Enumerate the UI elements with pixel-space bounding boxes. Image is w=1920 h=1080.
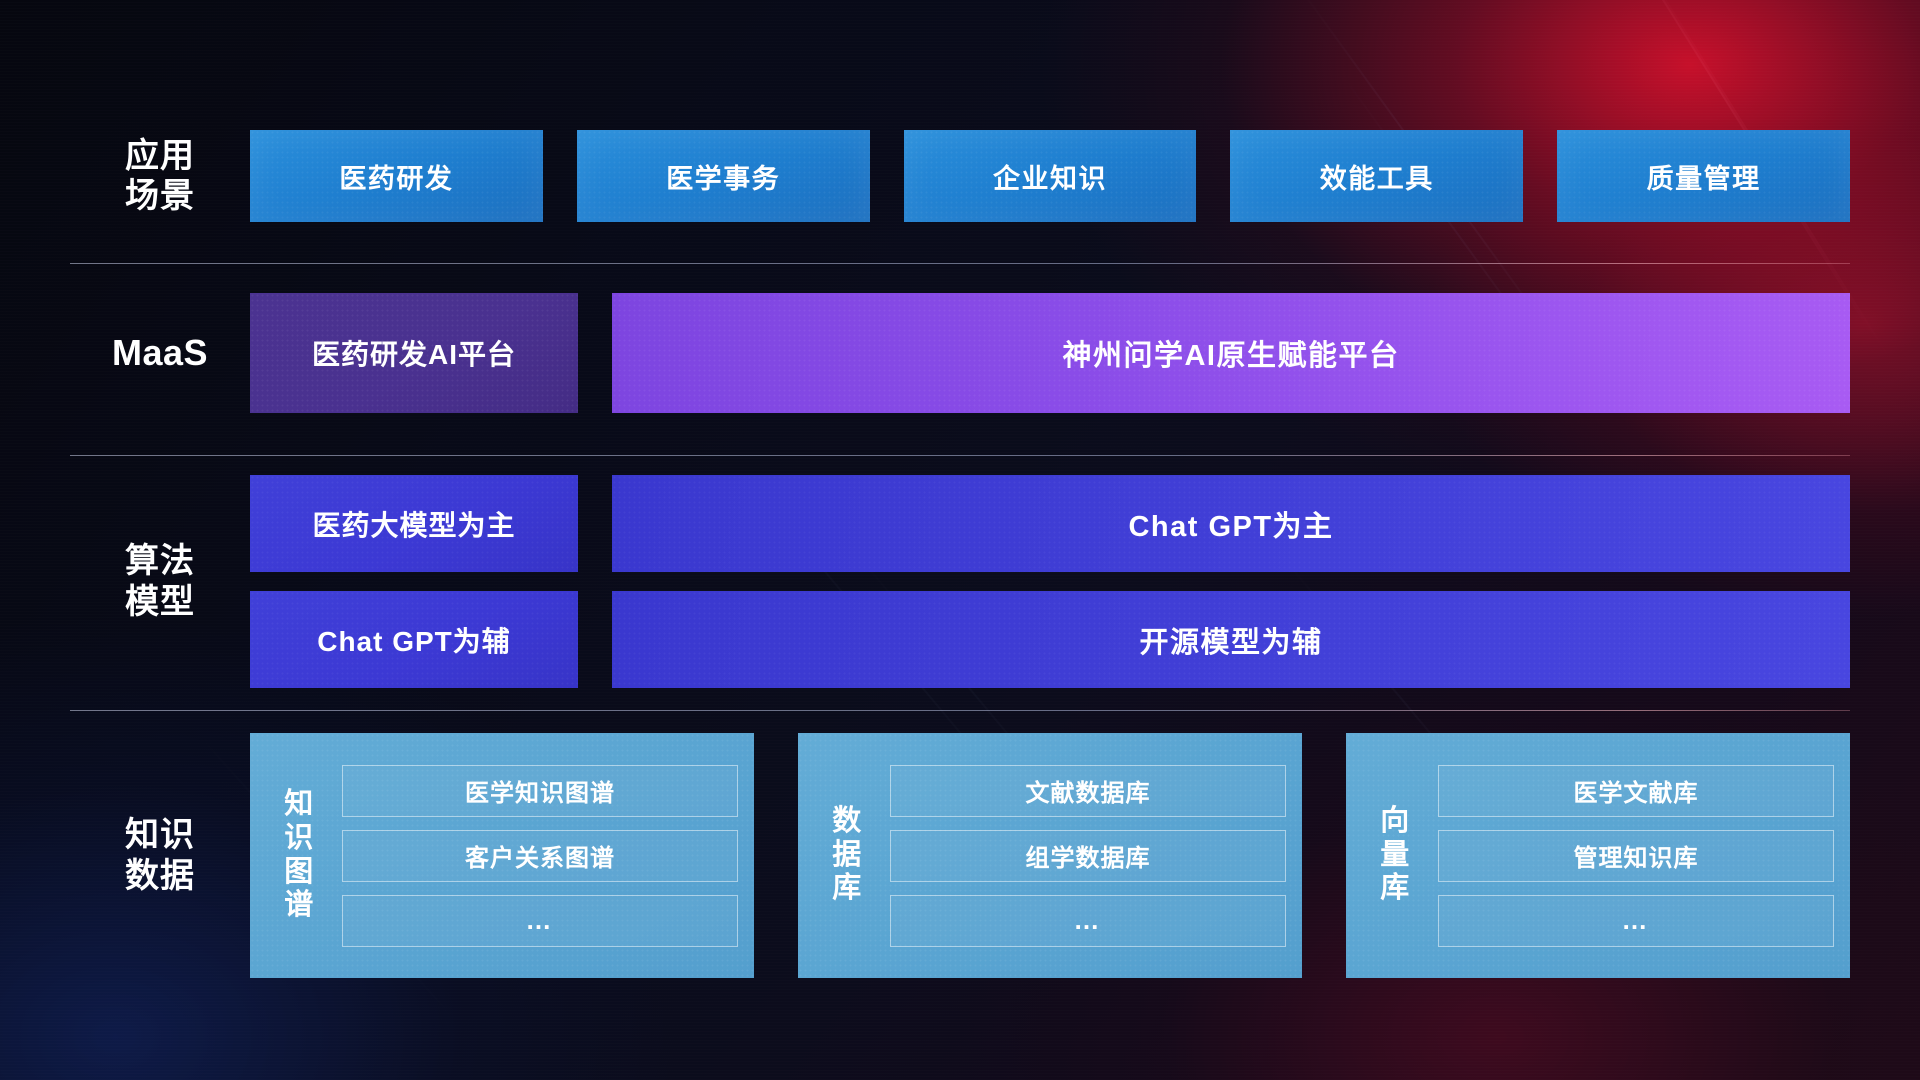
divider-after-maas xyxy=(70,455,1850,456)
tier-label-application-scenarios: 应用 场景 xyxy=(70,136,250,216)
knowledge-panel-items: 文献数据库 组学数据库 … xyxy=(890,765,1286,947)
vertical-label-char: 库 xyxy=(1352,872,1438,906)
app-box-label: 医学事务 xyxy=(666,157,780,196)
vertical-label-char: 据 xyxy=(804,839,890,873)
app-box-efficiency-tools[interactable]: 效能工具 xyxy=(1230,130,1523,222)
tier-label-line: 知识 xyxy=(70,815,250,855)
algo-box-chatgpt-primary[interactable]: Chat GPT为主 xyxy=(612,475,1850,572)
app-box-drug-rd[interactable]: 医药研发 xyxy=(250,130,543,222)
vertical-label-char: 谱 xyxy=(256,889,342,923)
knowledge-item-label: 医学文献库 xyxy=(1574,773,1699,808)
knowledge-panel-knowledge-graph[interactable]: 知 识 图 谱 医学知识图谱 客户关系图谱 … xyxy=(250,733,754,978)
knowledge-item-literature-database[interactable]: 文献数据库 xyxy=(890,765,1286,817)
vertical-label-char: 数 xyxy=(804,805,890,839)
knowledge-panel-vector-database[interactable]: 向 量 库 医学文献库 管理知识库 … xyxy=(1346,733,1850,978)
knowledge-panel-items: 医学知识图谱 客户关系图谱 … xyxy=(342,765,738,947)
knowledge-item-medical-literature-library[interactable]: 医学文献库 xyxy=(1438,765,1834,817)
tier-algorithm-models: 算法 模型 医药大模型为主 Chat GPT为主 Chat GPT为辅 开源模型… xyxy=(70,475,1850,688)
algorithm-model-boxes: 医药大模型为主 Chat GPT为主 Chat GPT为辅 开源模型为辅 xyxy=(250,475,1850,688)
tier-label-line: 应用 xyxy=(70,136,250,176)
divider-after-algorithm-models xyxy=(70,710,1850,711)
knowledge-item-label: 文献数据库 xyxy=(1026,773,1151,808)
tier-application-scenarios: 应用 场景 医药研发 医学事务 企业知识 效能工具 质量管理 xyxy=(70,130,1850,222)
knowledge-panel-vertical-label: 数 据 库 xyxy=(804,805,890,906)
maas-boxes: 医药研发AI平台 神州问学AI原生赋能平台 xyxy=(250,293,1850,413)
maas-box-drug-rd-ai-platform[interactable]: 医药研发AI平台 xyxy=(250,293,578,413)
app-box-enterprise-knowledge[interactable]: 企业知识 xyxy=(904,130,1197,222)
knowledge-item-more[interactable]: … xyxy=(890,895,1286,947)
algorithm-row-primary: 医药大模型为主 Chat GPT为主 xyxy=(250,475,1850,572)
tier-label-line: 模型 xyxy=(70,582,250,622)
knowledge-item-label: … xyxy=(1074,905,1103,936)
app-box-label: 效能工具 xyxy=(1320,157,1434,196)
divider-after-application-scenarios xyxy=(70,263,1850,264)
knowledge-item-medical-knowledge-graph[interactable]: 医学知识图谱 xyxy=(342,765,738,817)
algo-box-label: 医药大模型为主 xyxy=(312,504,515,544)
vertical-label-char: 量 xyxy=(1352,839,1438,873)
vertical-label-char: 向 xyxy=(1352,805,1438,839)
tier-label-line: 数据 xyxy=(70,856,250,896)
knowledge-item-label: 组学数据库 xyxy=(1026,838,1151,873)
tier-label-knowledge-data: 知识 数据 xyxy=(70,815,250,895)
knowledge-item-omics-database[interactable]: 组学数据库 xyxy=(890,830,1286,882)
tier-label-line: 场景 xyxy=(70,176,250,216)
algo-box-label: Chat GPT为主 xyxy=(1128,503,1333,545)
vertical-label-char: 识 xyxy=(256,822,342,856)
application-scenarios-boxes: 医药研发 医学事务 企业知识 效能工具 质量管理 xyxy=(250,130,1850,222)
app-box-medical-affairs[interactable]: 医学事务 xyxy=(577,130,870,222)
vertical-label-char: 知 xyxy=(256,788,342,822)
knowledge-item-label: … xyxy=(526,905,555,936)
architecture-diagram-canvas: 应用 场景 医药研发 医学事务 企业知识 效能工具 质量管理 MaaS 医药研发… xyxy=(0,0,1920,1080)
knowledge-item-more[interactable]: … xyxy=(342,895,738,947)
algo-box-chatgpt-secondary[interactable]: Chat GPT为辅 xyxy=(250,591,578,688)
tier-maas: MaaS 医药研发AI平台 神州问学AI原生赋能平台 xyxy=(70,293,1850,413)
knowledge-panel-vertical-label: 向 量 库 xyxy=(1352,805,1438,906)
algo-box-pharma-large-model-primary[interactable]: 医药大模型为主 xyxy=(250,475,578,572)
maas-box-label: 医药研发AI平台 xyxy=(312,333,516,373)
knowledge-item-label: … xyxy=(1622,905,1651,936)
algo-box-opensource-secondary[interactable]: 开源模型为辅 xyxy=(612,591,1850,688)
knowledge-item-label: 管理知识库 xyxy=(1574,838,1699,873)
knowledge-item-customer-relationship-graph[interactable]: 客户关系图谱 xyxy=(342,830,738,882)
tier-label-maas: MaaS xyxy=(70,332,250,374)
tier-label-line: 算法 xyxy=(70,541,250,581)
knowledge-data-panels: 知 识 图 谱 医学知识图谱 客户关系图谱 … 数 xyxy=(250,733,1850,978)
knowledge-item-label: 客户关系图谱 xyxy=(465,838,615,873)
knowledge-panel-vertical-label: 知 识 图 谱 xyxy=(256,788,342,923)
knowledge-item-management-knowledge-base[interactable]: 管理知识库 xyxy=(1438,830,1834,882)
app-box-label: 医药研发 xyxy=(339,157,453,196)
tier-label-line: MaaS xyxy=(70,332,250,374)
app-box-quality-management[interactable]: 质量管理 xyxy=(1557,130,1850,222)
knowledge-item-more[interactable]: … xyxy=(1438,895,1834,947)
app-box-label: 企业知识 xyxy=(993,157,1107,196)
knowledge-item-label: 医学知识图谱 xyxy=(465,773,615,808)
maas-box-label: 神州问学AI原生赋能平台 xyxy=(1062,332,1399,374)
knowledge-panel-items: 医学文献库 管理知识库 … xyxy=(1438,765,1834,947)
vertical-label-char: 库 xyxy=(804,872,890,906)
vertical-label-char: 图 xyxy=(256,856,342,890)
maas-box-shenzhou-wenxue-platform[interactable]: 神州问学AI原生赋能平台 xyxy=(612,293,1850,413)
knowledge-panel-database[interactable]: 数 据 库 文献数据库 组学数据库 … xyxy=(798,733,1302,978)
algorithm-row-secondary: Chat GPT为辅 开源模型为辅 xyxy=(250,591,1850,688)
algo-box-label: Chat GPT为辅 xyxy=(317,620,511,660)
algo-box-label: 开源模型为辅 xyxy=(1139,619,1322,661)
app-box-label: 质量管理 xyxy=(1647,157,1761,196)
tier-label-algorithm-models: 算法 模型 xyxy=(70,541,250,621)
tier-knowledge-data: 知识 数据 知 识 图 谱 医学知识图谱 客户关系图谱 xyxy=(70,733,1850,978)
